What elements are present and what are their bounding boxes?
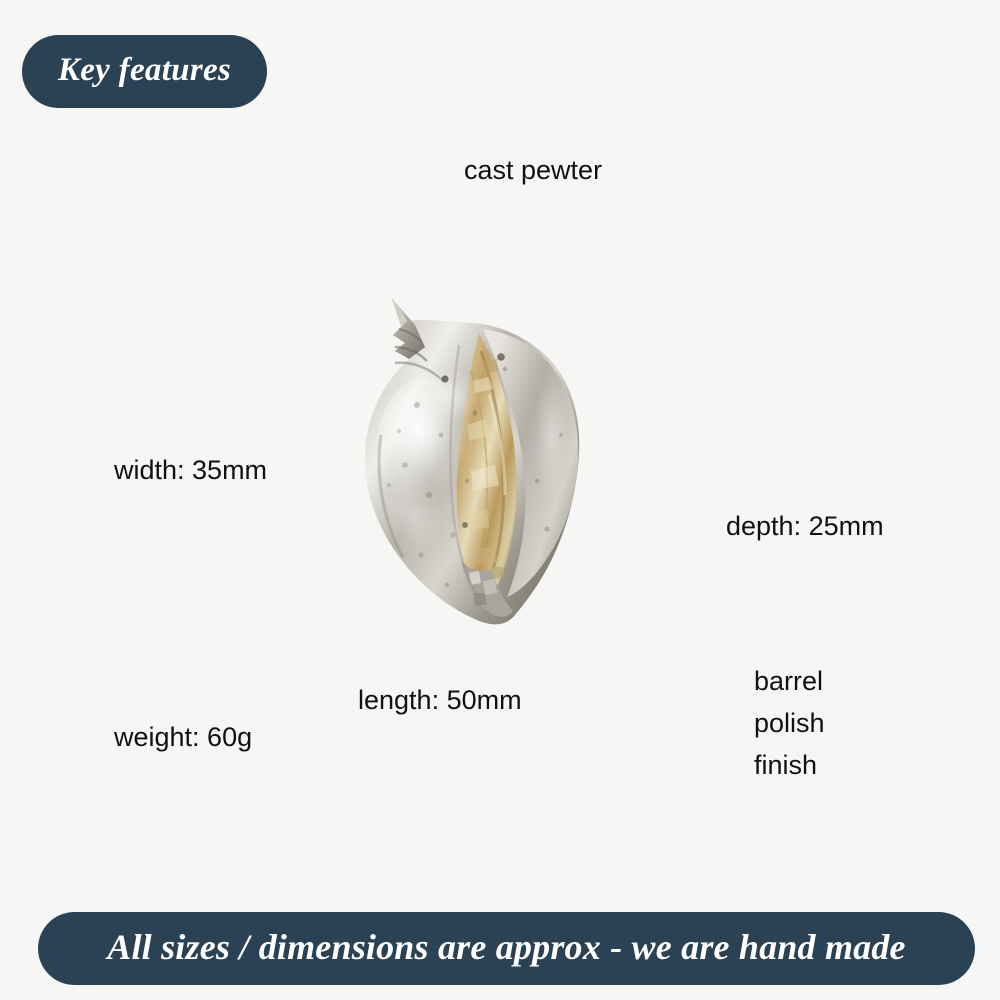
feature-label-length: length: 50mm (358, 685, 522, 717)
body-highlight (383, 475, 443, 555)
key-features-badge: Key features (22, 35, 267, 108)
feature-label-depth: depth: 25mm (726, 511, 884, 543)
feature-label-finish: barrel polish finish (754, 660, 825, 786)
cast-pit (497, 353, 505, 361)
finish-line-1: barrel (754, 660, 825, 702)
disclaimer-banner: All sizes / dimensions are approx - we a… (38, 912, 975, 985)
finish-line-3: finish (754, 744, 825, 786)
cast-pit (441, 375, 448, 382)
infographic-canvas: Key features (0, 0, 1000, 1000)
feature-label-material: cast pewter (464, 155, 602, 187)
feature-label-weight: weight: 60g (114, 722, 252, 754)
feature-label-width: width: 35mm (114, 455, 267, 487)
disclaimer-label: All sizes / dimensions are approx - we a… (107, 929, 905, 968)
product-image-shell (355, 285, 615, 645)
finish-line-2: polish (754, 702, 825, 744)
shell-illustration (355, 285, 615, 645)
key-features-label: Key features (58, 54, 231, 89)
cast-pit (462, 522, 468, 528)
